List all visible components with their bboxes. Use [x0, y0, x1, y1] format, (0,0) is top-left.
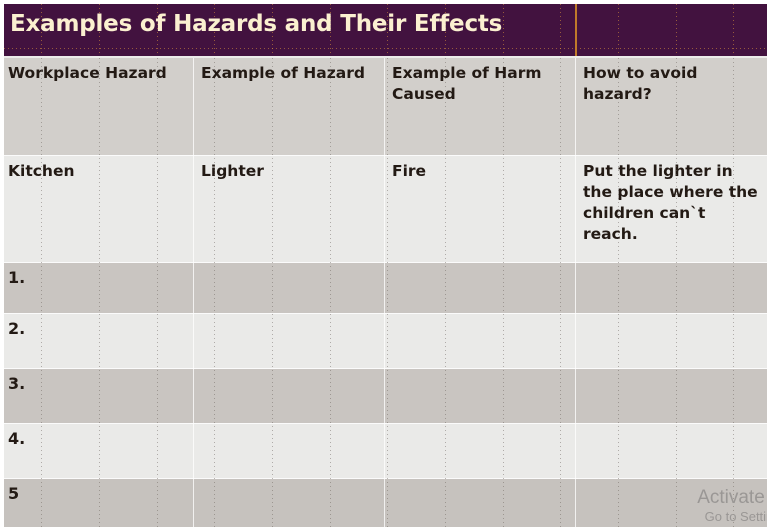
column-header-example-of-hazard: Example of Hazard — [193, 58, 384, 155]
cell-how-to-avoid: Put the lighter in the place where the c… — [575, 156, 770, 262]
table-row: 2. — [0, 314, 770, 368]
cell-example-of-hazard — [193, 314, 384, 368]
cell-row-number: 4. — [0, 424, 193, 478]
cell-example-of-harm — [384, 369, 575, 423]
table-row: 1. — [0, 263, 770, 313]
banner-guide-vline — [503, 4, 504, 56]
cell-example-of-harm — [384, 314, 575, 368]
cell-example-of-harm: Fire — [384, 156, 575, 262]
table-row: 3. — [0, 369, 770, 423]
row-separator — [0, 313, 770, 314]
cell-example-of-hazard: Lighter — [193, 156, 384, 262]
row-separator — [0, 262, 770, 263]
table-row: Kitchen Lighter Fire Put the lighter in … — [0, 156, 770, 262]
table-header-row: Workplace Hazard Example of Hazard Examp… — [0, 58, 770, 155]
cell-example-of-hazard — [193, 479, 384, 527]
column-separator — [193, 58, 194, 527]
banner-guide-vline — [733, 4, 734, 56]
row-separator — [0, 155, 770, 156]
cell-how-to-avoid — [575, 263, 770, 313]
cell-example-of-harm — [384, 479, 575, 527]
cell-how-to-avoid — [575, 424, 770, 478]
cell-row-number: 5 — [0, 479, 193, 527]
banner-guide-vline — [618, 4, 619, 56]
cell-example-of-hazard — [193, 369, 384, 423]
row-separator — [0, 423, 770, 424]
slide-canvas: Workplace Hazard Example of Hazard Examp… — [0, 0, 770, 527]
cell-workplace-hazard: Kitchen — [0, 156, 193, 262]
column-header-example-of-harm: Example of Harm Caused — [384, 58, 575, 155]
slide-edge-top — [0, 0, 770, 4]
cell-row-number: 1. — [0, 263, 193, 313]
column-separator — [384, 58, 385, 527]
cell-how-to-avoid — [575, 314, 770, 368]
table-row: 4. — [0, 424, 770, 478]
row-separator — [0, 478, 770, 479]
cell-example-of-harm — [384, 424, 575, 478]
cell-row-number: 2. — [0, 314, 193, 368]
banner-guide-vline — [560, 4, 561, 56]
banner-guide-vline — [676, 4, 677, 56]
cell-row-number: 3. — [0, 369, 193, 423]
column-header-workplace-hazard: Workplace Hazard — [0, 58, 193, 155]
page-title: Examples of Hazards and Their Effects — [10, 11, 502, 37]
hazards-table: Workplace Hazard Example of Hazard Examp… — [0, 58, 770, 527]
banner-vertical-divider — [575, 4, 577, 56]
table-row: 5 — [0, 479, 770, 527]
banner-guide-hline — [4, 48, 767, 49]
cell-how-to-avoid — [575, 369, 770, 423]
column-header-how-to-avoid: How to avoid hazard? — [575, 58, 770, 155]
cell-example-of-harm — [384, 263, 575, 313]
cell-example-of-hazard — [193, 263, 384, 313]
column-separator — [575, 58, 576, 527]
cell-how-to-avoid — [575, 479, 770, 527]
slide-edge-left — [0, 0, 4, 527]
row-separator — [0, 368, 770, 369]
cell-example-of-hazard — [193, 424, 384, 478]
